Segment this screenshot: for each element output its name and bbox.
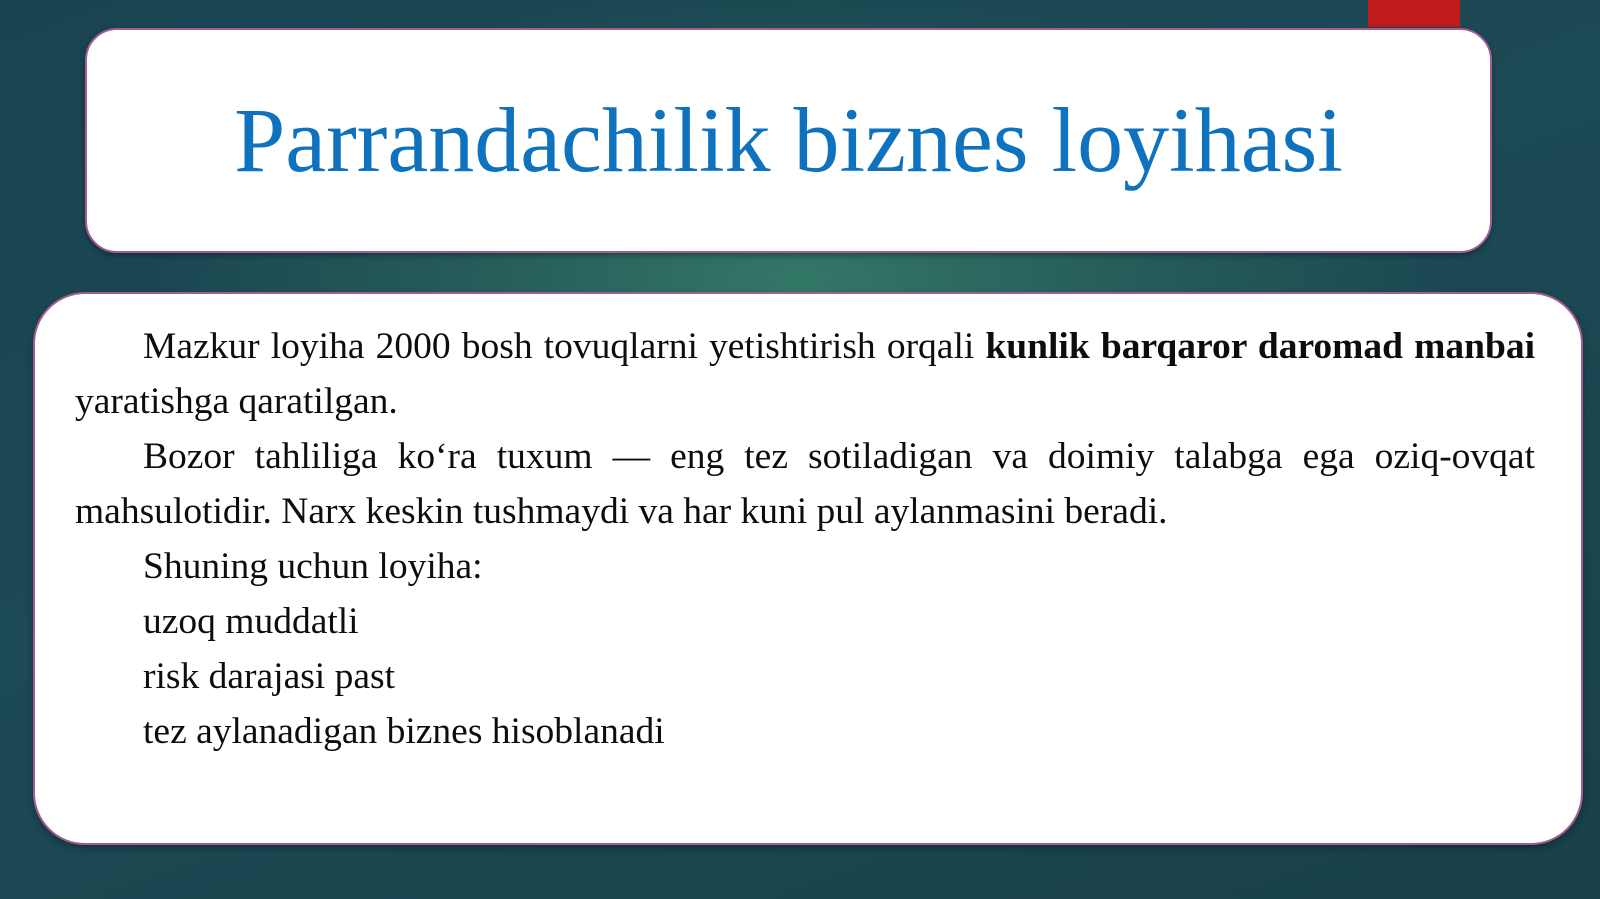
paragraph-1-run-3: yaratishga qaratilgan. [75,381,398,422]
body-line-2: uzoq muddatli [75,595,1535,650]
body-line-4: tez aylanadigan biznes hisoblanadi [75,705,1535,760]
paragraph-1-run-1: Mazkur loyiha 2000 bosh tovuqlarni yetis… [143,326,985,367]
title-card: Parrandachilik biznes loyihasi [85,28,1492,253]
body-line-3: risk darajasi past [75,650,1535,705]
paragraph-2-run-1: Bozor tahliliga ko‘ra tuxum — eng tez so… [75,436,1535,532]
slide-canvas: Parrandachilik biznes loyihasi Mazkur lo… [0,0,1600,899]
body-line-1: Shuning uchun loyiha: [75,540,1535,595]
paragraph-1: Mazkur loyiha 2000 bosh tovuqlarni yetis… [75,320,1535,430]
page-title: Parrandachilik biznes loyihasi [234,92,1343,189]
red-accent-tab [1368,0,1460,27]
paragraph-1-run-2-bold: kunlik barqaror daromad manbai [985,326,1535,367]
body-content-card: Mazkur loyiha 2000 bosh tovuqlarni yetis… [33,292,1583,845]
paragraph-2: Bozor tahliliga ko‘ra tuxum — eng tez so… [75,430,1535,540]
